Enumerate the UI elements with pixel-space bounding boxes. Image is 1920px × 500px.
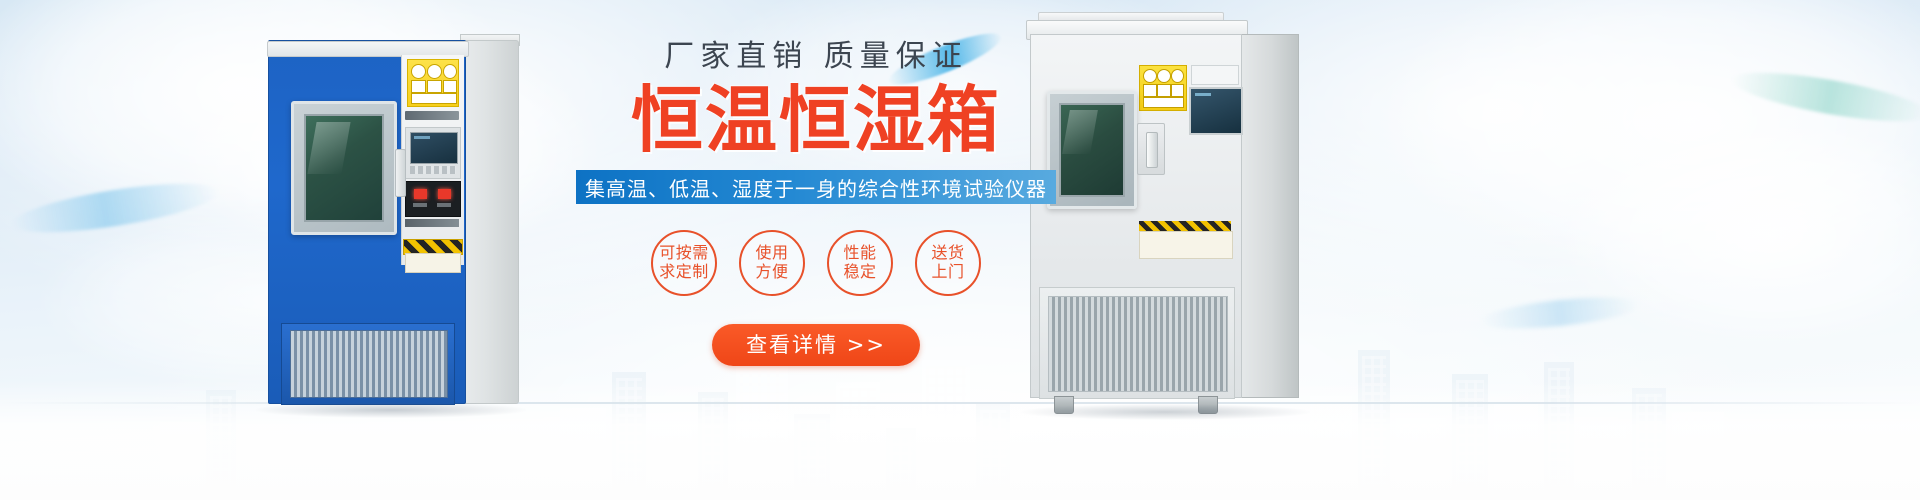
warning-sticker-icon [407, 59, 459, 107]
banner-subtitle-bar: 集高温、低温、湿度于一身的综合性环境试验仪器 [576, 170, 1056, 204]
hazard-stripe-icon [1139, 221, 1231, 231]
feature-badge-delivery[interactable]: 送货 上门 [915, 230, 981, 296]
feature-badge-line2: 稳定 [843, 263, 876, 282]
warning-sticker-icon [1139, 65, 1187, 111]
product-image-gray-chamber [1030, 12, 1298, 412]
chamber-door [1047, 91, 1137, 209]
brand-strip [405, 219, 459, 227]
feature-badge-custom[interactable]: 可按需 求定制 [651, 230, 717, 296]
control-panel [1189, 87, 1243, 135]
feature-badge-line1: 送货 [931, 244, 964, 263]
feature-badge-line2: 求定制 [659, 263, 709, 282]
spec-label [405, 253, 461, 273]
feature-badge-line1: 使用 [755, 244, 788, 263]
door-handle [395, 149, 406, 197]
feature-badge-line2: 上门 [931, 263, 964, 282]
product-image-blue-chamber [268, 30, 518, 408]
banner-headline: 恒温恒湿箱 [576, 84, 1056, 156]
promo-banner: 厂家直销 质量保证 恒温恒湿箱 集高温、低温、湿度于一身的综合性环境试验仪器 可… [0, 0, 1920, 500]
feature-badge-easy-use[interactable]: 使用 方便 [739, 230, 805, 296]
banner-tagline: 厂家直销 质量保证 [576, 42, 1056, 72]
chamber-door [291, 101, 397, 235]
view-details-button[interactable]: 查看详情 >> [712, 324, 920, 366]
door-handle [1137, 123, 1165, 175]
indicator-panel [405, 181, 461, 217]
product-nameplate [1191, 65, 1239, 85]
control-panel [405, 127, 461, 179]
cta-container: 查看详情 >> [576, 324, 1056, 366]
vent-grille [1048, 296, 1228, 392]
feature-badge-line2: 方便 [755, 263, 788, 282]
feature-badge-line1: 性能 [843, 244, 876, 263]
product-nameplate [405, 111, 459, 120]
banner-copy-block: 厂家直销 质量保证 恒温恒湿箱 集高温、低温、湿度于一身的综合性环境试验仪器 可… [576, 42, 1056, 366]
feature-badge-line1: 可按需 [659, 244, 709, 263]
feature-badge-stable[interactable]: 性能 稳定 [827, 230, 893, 296]
vent-grille [290, 330, 448, 398]
banner-subtitle: 集高温、低温、湿度于一身的综合性环境试验仪器 [585, 173, 1047, 202]
feature-badge-list: 可按需 求定制 使用 方便 性能 稳定 送货 上门 [576, 230, 1056, 296]
spec-label [1139, 231, 1233, 259]
